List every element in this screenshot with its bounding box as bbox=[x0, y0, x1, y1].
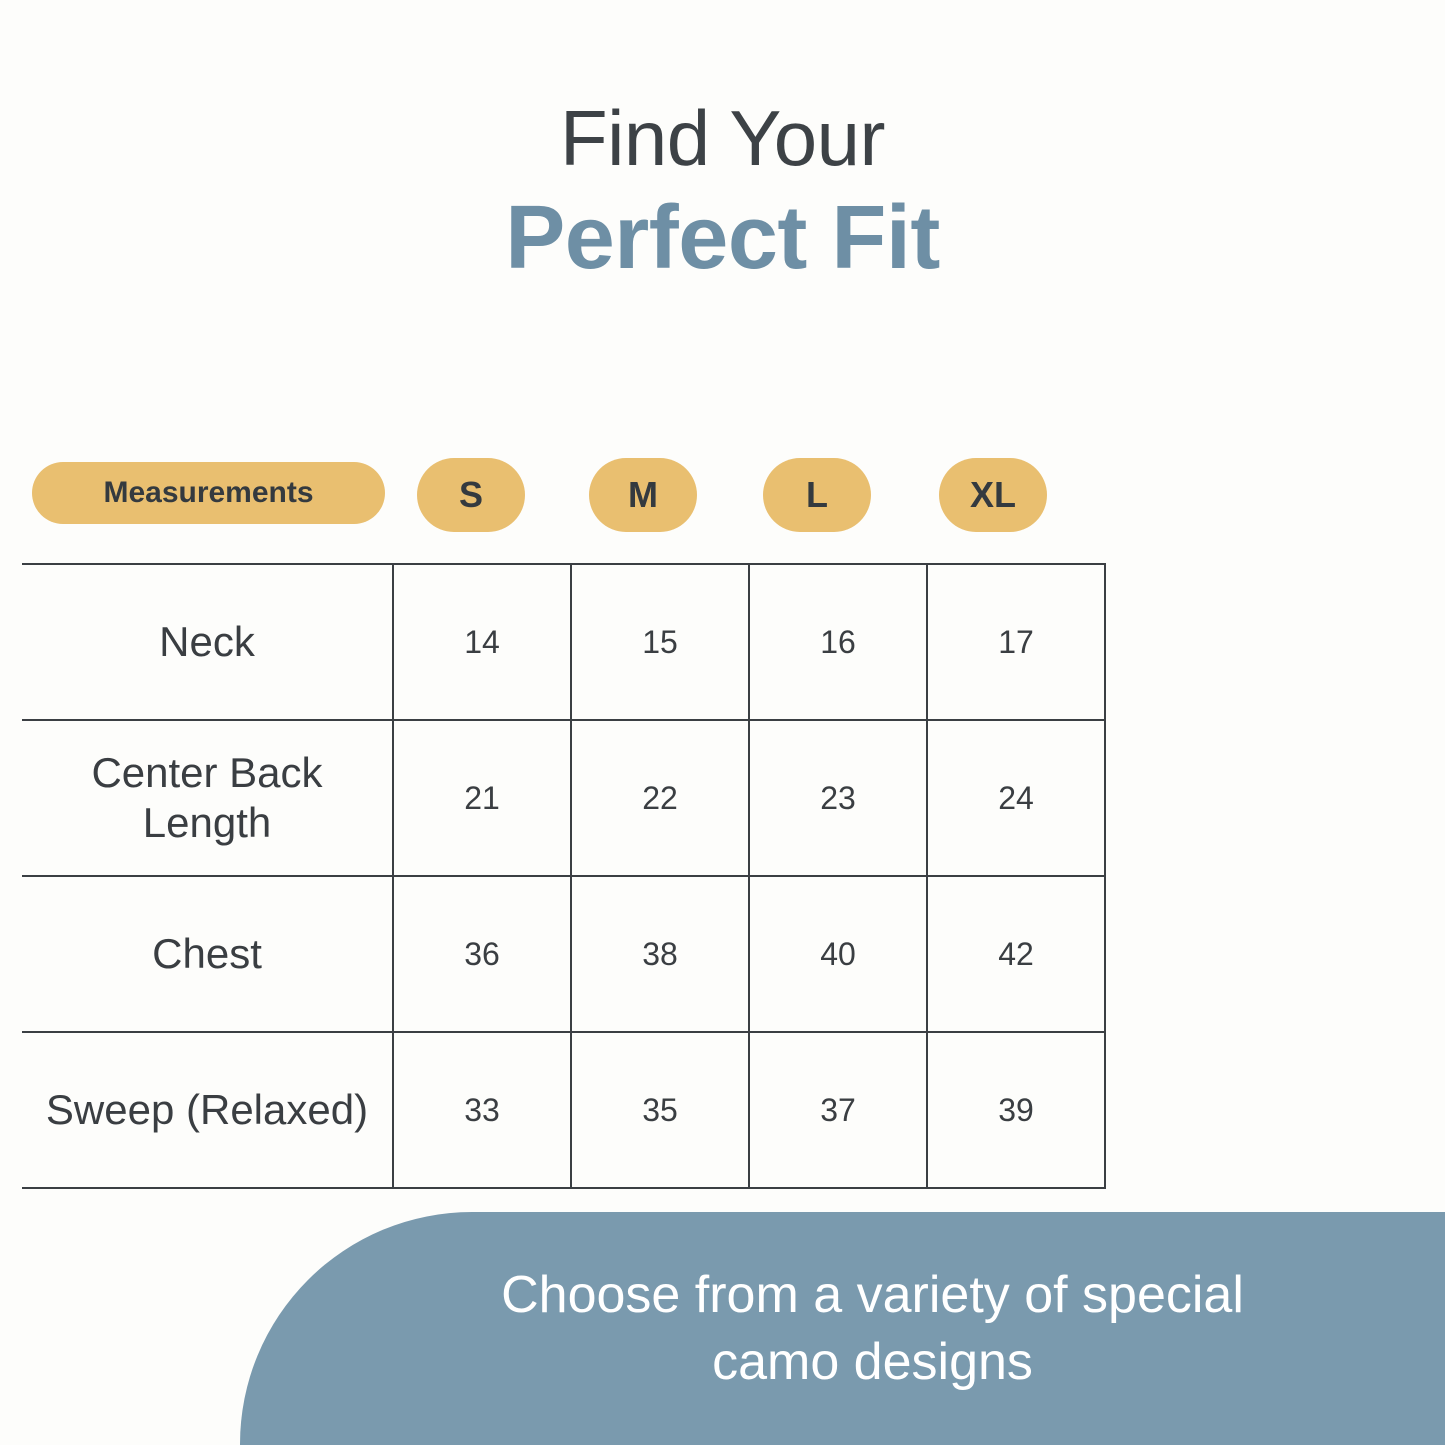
banner-text-line-2: camo designs bbox=[712, 1329, 1033, 1396]
row-label-center-back-length: Center Back Length bbox=[22, 720, 393, 876]
pill-size-l: L bbox=[763, 458, 871, 532]
cell-chest-m: 38 bbox=[571, 876, 749, 1032]
pill-measurements: Measurements bbox=[32, 462, 385, 524]
row-label-neck: Neck bbox=[22, 564, 393, 720]
cell-sweep-relaxed-xl: 39 bbox=[927, 1032, 1105, 1188]
banner-text-line-1: Choose from a variety of special bbox=[501, 1262, 1244, 1329]
cell-sweep-relaxed-m: 35 bbox=[571, 1032, 749, 1188]
row-label-sweep-relaxed: Sweep (Relaxed) bbox=[22, 1032, 393, 1188]
banner-text: Choose from a variety of special camo de… bbox=[240, 1212, 1445, 1445]
table-row: Sweep (Relaxed) 33 35 37 39 bbox=[22, 1032, 1105, 1188]
page-title: Find Your Perfect Fit bbox=[0, 96, 1445, 289]
pill-size-s: S bbox=[417, 458, 525, 532]
cell-sweep-relaxed-l: 37 bbox=[749, 1032, 927, 1188]
cell-chest-s: 36 bbox=[393, 876, 571, 1032]
cell-chest-l: 40 bbox=[749, 876, 927, 1032]
cell-neck-s: 14 bbox=[393, 564, 571, 720]
cell-neck-m: 15 bbox=[571, 564, 749, 720]
cell-sweep-relaxed-s: 33 bbox=[393, 1032, 571, 1188]
cell-neck-l: 16 bbox=[749, 564, 927, 720]
pill-size-m: M bbox=[589, 458, 697, 532]
cell-center-back-length-m: 22 bbox=[571, 720, 749, 876]
row-label-chest: Chest bbox=[22, 876, 393, 1032]
cell-chest-xl: 42 bbox=[927, 876, 1105, 1032]
cell-center-back-length-s: 21 bbox=[393, 720, 571, 876]
table-row: Center Back Length 21 22 23 24 bbox=[22, 720, 1105, 876]
table-row: Neck 14 15 16 17 bbox=[22, 564, 1105, 720]
cell-neck-xl: 17 bbox=[927, 564, 1105, 720]
cell-center-back-length-xl: 24 bbox=[927, 720, 1105, 876]
size-chart-header-pills: Measurements S M L XL bbox=[0, 458, 1445, 534]
bottom-banner: Choose from a variety of special camo de… bbox=[240, 1212, 1445, 1445]
size-chart-table: Neck 14 15 16 17 Center Back Length 21 2… bbox=[22, 563, 1106, 1189]
cell-center-back-length-l: 23 bbox=[749, 720, 927, 876]
page-title-line-2: Perfect Fit bbox=[0, 188, 1445, 289]
pill-size-xl: XL bbox=[939, 458, 1047, 532]
table-row: Chest 36 38 40 42 bbox=[22, 876, 1105, 1032]
page-title-line-1: Find Your bbox=[0, 96, 1445, 180]
